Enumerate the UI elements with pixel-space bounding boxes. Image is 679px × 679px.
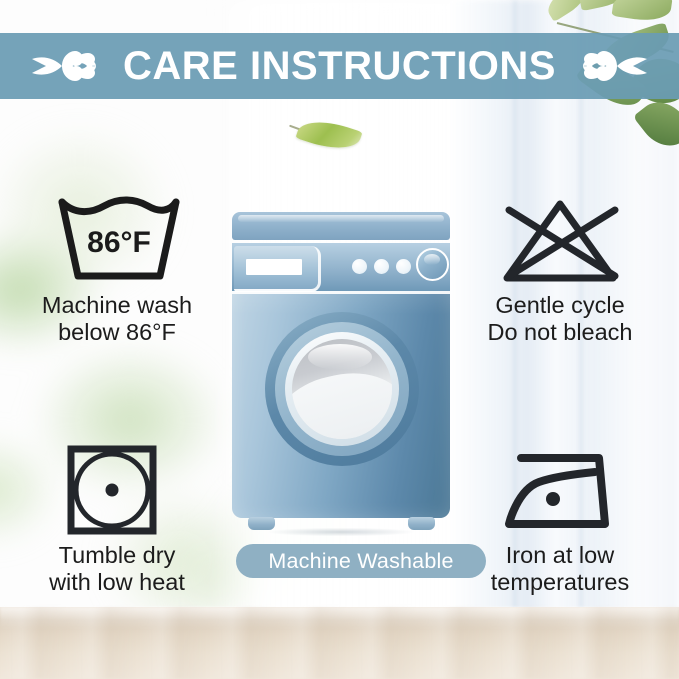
washer-top-lid xyxy=(232,212,450,240)
washer-door-glass-swirl xyxy=(292,362,392,439)
fleur-de-lis-icon-left xyxy=(26,33,98,99)
washer-top-highlight xyxy=(238,215,444,222)
care-item-machine-wash: 86°F Machine wash below 86°F xyxy=(12,192,222,346)
care-item-gentle-cycle-no-bleach: Gentle cycle Do not bleach xyxy=(455,192,665,346)
washer-door-glass-highlight xyxy=(308,344,372,370)
washer-door-ring-outer xyxy=(275,322,409,456)
wooden-table-grain xyxy=(0,607,679,679)
washer-panel-seam xyxy=(232,291,450,294)
washer-door-ring-inner xyxy=(285,332,399,446)
washer-shadow xyxy=(238,526,444,538)
washing-machine-illustration xyxy=(232,212,450,532)
indicator-light xyxy=(396,259,411,274)
care-item-caption: Gentle cycle Do not bleach xyxy=(455,292,665,346)
washer-door-glass xyxy=(292,339,392,439)
wash-tub-icon: 86°F xyxy=(12,192,222,288)
iron-low-temperature-icon xyxy=(455,442,665,538)
page-title: CARE INSTRUCTIONS xyxy=(0,33,679,99)
care-item-caption: Iron at low temperatures xyxy=(455,542,665,596)
indicator-light xyxy=(374,259,389,274)
triangle-crossed-no-bleach-icon xyxy=(455,192,665,288)
detergent-drawer-slot xyxy=(246,259,302,275)
tumble-dry-low-heat-icon xyxy=(12,442,222,538)
care-item-caption: Machine wash below 86°F xyxy=(12,292,222,346)
care-item-iron-low: Iron at low temperatures xyxy=(455,442,665,596)
wash-temperature-label: 86°F xyxy=(87,226,151,259)
washer-door xyxy=(265,312,419,466)
status-badge: Machine Washable xyxy=(236,544,486,578)
care-item-caption: Tumble dry with low heat xyxy=(12,542,222,596)
indicator-light xyxy=(352,259,367,274)
leaf-shape xyxy=(611,0,672,24)
care-instructions-infographic: CARE INSTRUCTIONS 86°F xyxy=(0,0,679,679)
header-banner: CARE INSTRUCTIONS xyxy=(0,33,679,99)
detergent-drawer xyxy=(234,246,321,292)
control-knob xyxy=(416,248,449,281)
care-item-tumble-dry: Tumble dry with low heat xyxy=(12,442,222,596)
status-badge-label: Machine Washable xyxy=(268,549,453,574)
fleur-de-lis-icon-right xyxy=(581,33,653,99)
control-knob-highlight xyxy=(424,254,440,265)
